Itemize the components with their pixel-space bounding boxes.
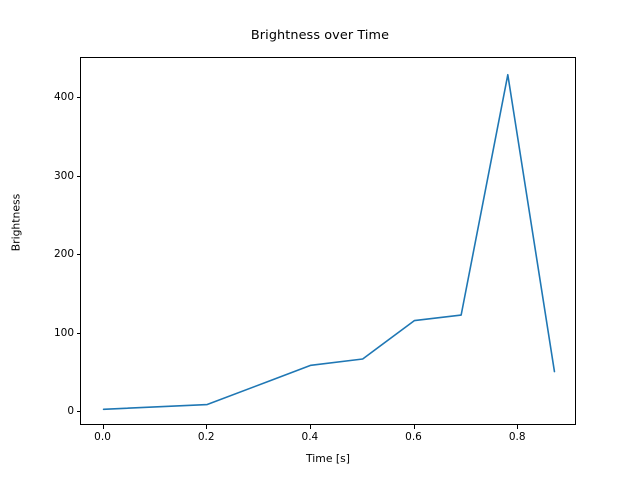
x-tick-mark bbox=[103, 425, 104, 429]
y-tick-mark bbox=[77, 254, 81, 255]
y-tick-mark bbox=[77, 333, 81, 334]
y-tick-label: 200 bbox=[34, 248, 74, 260]
y-tick-label: 400 bbox=[34, 91, 74, 103]
y-tick-label: 100 bbox=[34, 327, 74, 339]
x-tick-label: 0.4 bbox=[302, 431, 319, 443]
y-tick-mark bbox=[77, 176, 81, 177]
x-tick-mark bbox=[414, 425, 415, 429]
y-tick-mark bbox=[77, 411, 81, 412]
chart-title: Brightness over Time bbox=[0, 28, 640, 43]
x-tick-label: 0.2 bbox=[198, 431, 215, 443]
y-axis-label: Brightness bbox=[10, 143, 23, 303]
plot-axes bbox=[80, 57, 576, 425]
brightness-line-series bbox=[104, 75, 555, 410]
x-tick-label: 0.8 bbox=[509, 431, 526, 443]
y-tick-mark bbox=[77, 97, 81, 98]
x-tick-mark bbox=[206, 425, 207, 429]
x-tick-label: 0.0 bbox=[94, 431, 111, 443]
y-tick-label: 0 bbox=[34, 405, 74, 417]
x-axis-label: Time [s] bbox=[80, 452, 576, 465]
y-tick-label: 300 bbox=[34, 170, 74, 182]
x-tick-mark bbox=[310, 425, 311, 429]
line-plot-svg bbox=[81, 58, 577, 426]
x-tick-mark bbox=[517, 425, 518, 429]
chart-figure: Brightness over Time Time [s] Brightness… bbox=[0, 0, 640, 480]
x-tick-label: 0.6 bbox=[405, 431, 422, 443]
